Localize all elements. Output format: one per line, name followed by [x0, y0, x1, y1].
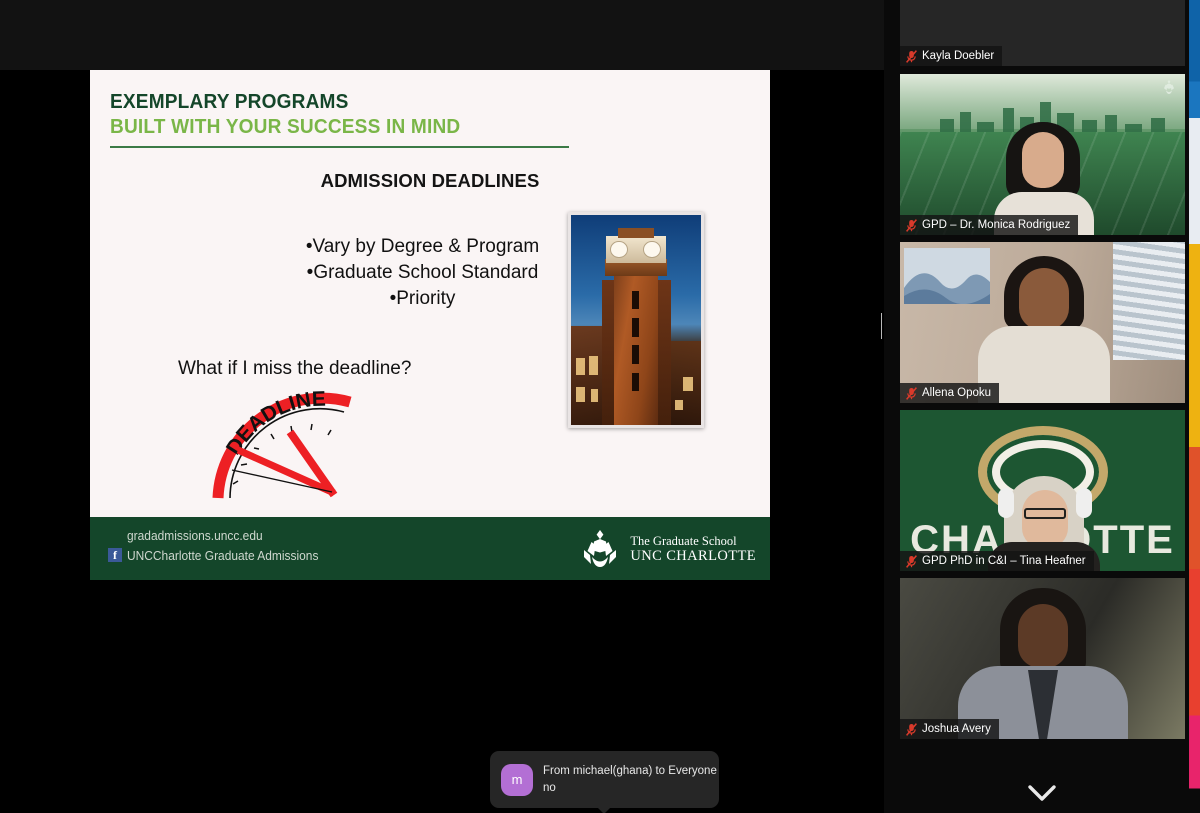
slide-title-line-1: EXEMPLARY PROGRAMS [110, 90, 349, 114]
shared-screen-stage[interactable]: EXEMPLARY PROGRAMS BUILT WITH YOUR SUCCE… [0, 0, 884, 813]
video-tile-kayla-doebler[interactable]: Kayla Doebler [900, 0, 1185, 66]
participant-namebar: Joshua Avery [900, 719, 999, 739]
participant-name: Kayla Doebler [922, 50, 994, 62]
facebook-icon: f [108, 548, 122, 562]
participant-gallery[interactable]: Kayla Doebler [884, 0, 1200, 813]
chat-notification-toast[interactable]: m From michael(ghana) to Everyone no [490, 751, 719, 808]
microphone-muted-icon [906, 387, 917, 400]
window-blinds [1113, 242, 1185, 360]
footer-url: gradadmissions.uncc.edu [127, 528, 263, 543]
svg-text:DEADLINE: DEADLINE [222, 388, 326, 459]
unc-charlotte-crown-logo [1161, 80, 1177, 94]
letterbox-left [0, 70, 90, 580]
slide-footer-bar: gradadmissions.uncc.edu f UNCCharlotte G… [90, 517, 770, 580]
chat-message-text: no [543, 782, 717, 794]
avatar: m [501, 764, 533, 796]
title-divider [110, 146, 569, 148]
participant-name: Allena Opoku [922, 387, 991, 399]
letterbox-top [0, 0, 884, 70]
participant-name: Joshua Avery [922, 723, 991, 735]
adjacent-gallery-column[interactable] [1189, 0, 1200, 813]
chat-sender-line: From michael(ghana) to Everyone [543, 765, 717, 777]
video-tile-joshua-avery[interactable]: Joshua Avery [900, 578, 1185, 739]
participant-namebar: Kayla Doebler [900, 46, 1002, 66]
participant-namebar: GPD – Dr. Monica Rodriguez [900, 215, 1078, 235]
microphone-muted-icon [906, 50, 917, 63]
slide-question: What if I miss the deadline? [178, 358, 411, 380]
slide-content-area: EXEMPLARY PROGRAMS BUILT WITH YOUR SUCCE… [90, 70, 770, 517]
deadline-gauge-graphic: DEADLINE [210, 388, 355, 500]
clock-tower-photo [568, 212, 704, 428]
logo-line-2: UNC CHARLOTTE [630, 548, 756, 564]
video-tile-tina-heafner[interactable]: CHARLOTTE GPD PhD in C&I – Tina Heafner [900, 410, 1185, 571]
video-tile-monica-rodriguez[interactable]: GPD – Dr. Monica Rodriguez [900, 74, 1185, 235]
logo-line-1: The Graduate School [630, 534, 756, 548]
slide-heading: ADMISSION DEADLINES [90, 170, 770, 192]
video-tile-allena-opoku[interactable]: Allena Opoku [900, 242, 1185, 403]
chevron-down-icon[interactable] [1003, 778, 1081, 808]
unc-charlotte-crown-logo [579, 530, 621, 568]
toast-pointer [596, 806, 612, 813]
microphone-muted-icon [906, 723, 917, 736]
participant-name: GPD – Dr. Monica Rodriguez [922, 219, 1070, 231]
unc-charlotte-logo: The Graduate School UNC CHARLOTTE [579, 529, 756, 569]
participant-namebar: Allena Opoku [900, 383, 999, 403]
letterbox-right [770, 70, 884, 580]
letterbox-bottom [0, 580, 884, 813]
footer-facebook-handle: UNCCharlotte Graduate Admissions [127, 548, 318, 563]
participant-namebar: GPD PhD in C&I – Tina Heafner [900, 551, 1094, 571]
presentation-slide[interactable]: EXEMPLARY PROGRAMS BUILT WITH YOUR SUCCE… [90, 70, 770, 580]
microphone-muted-icon [906, 555, 917, 568]
slide-title-line-2: BUILT WITH YOUR SUCCESS IN MIND [110, 115, 460, 139]
microphone-muted-icon [906, 219, 917, 232]
wall-art [904, 248, 990, 304]
participant-name: GPD PhD in C&I – Tina Heafner [922, 555, 1086, 567]
